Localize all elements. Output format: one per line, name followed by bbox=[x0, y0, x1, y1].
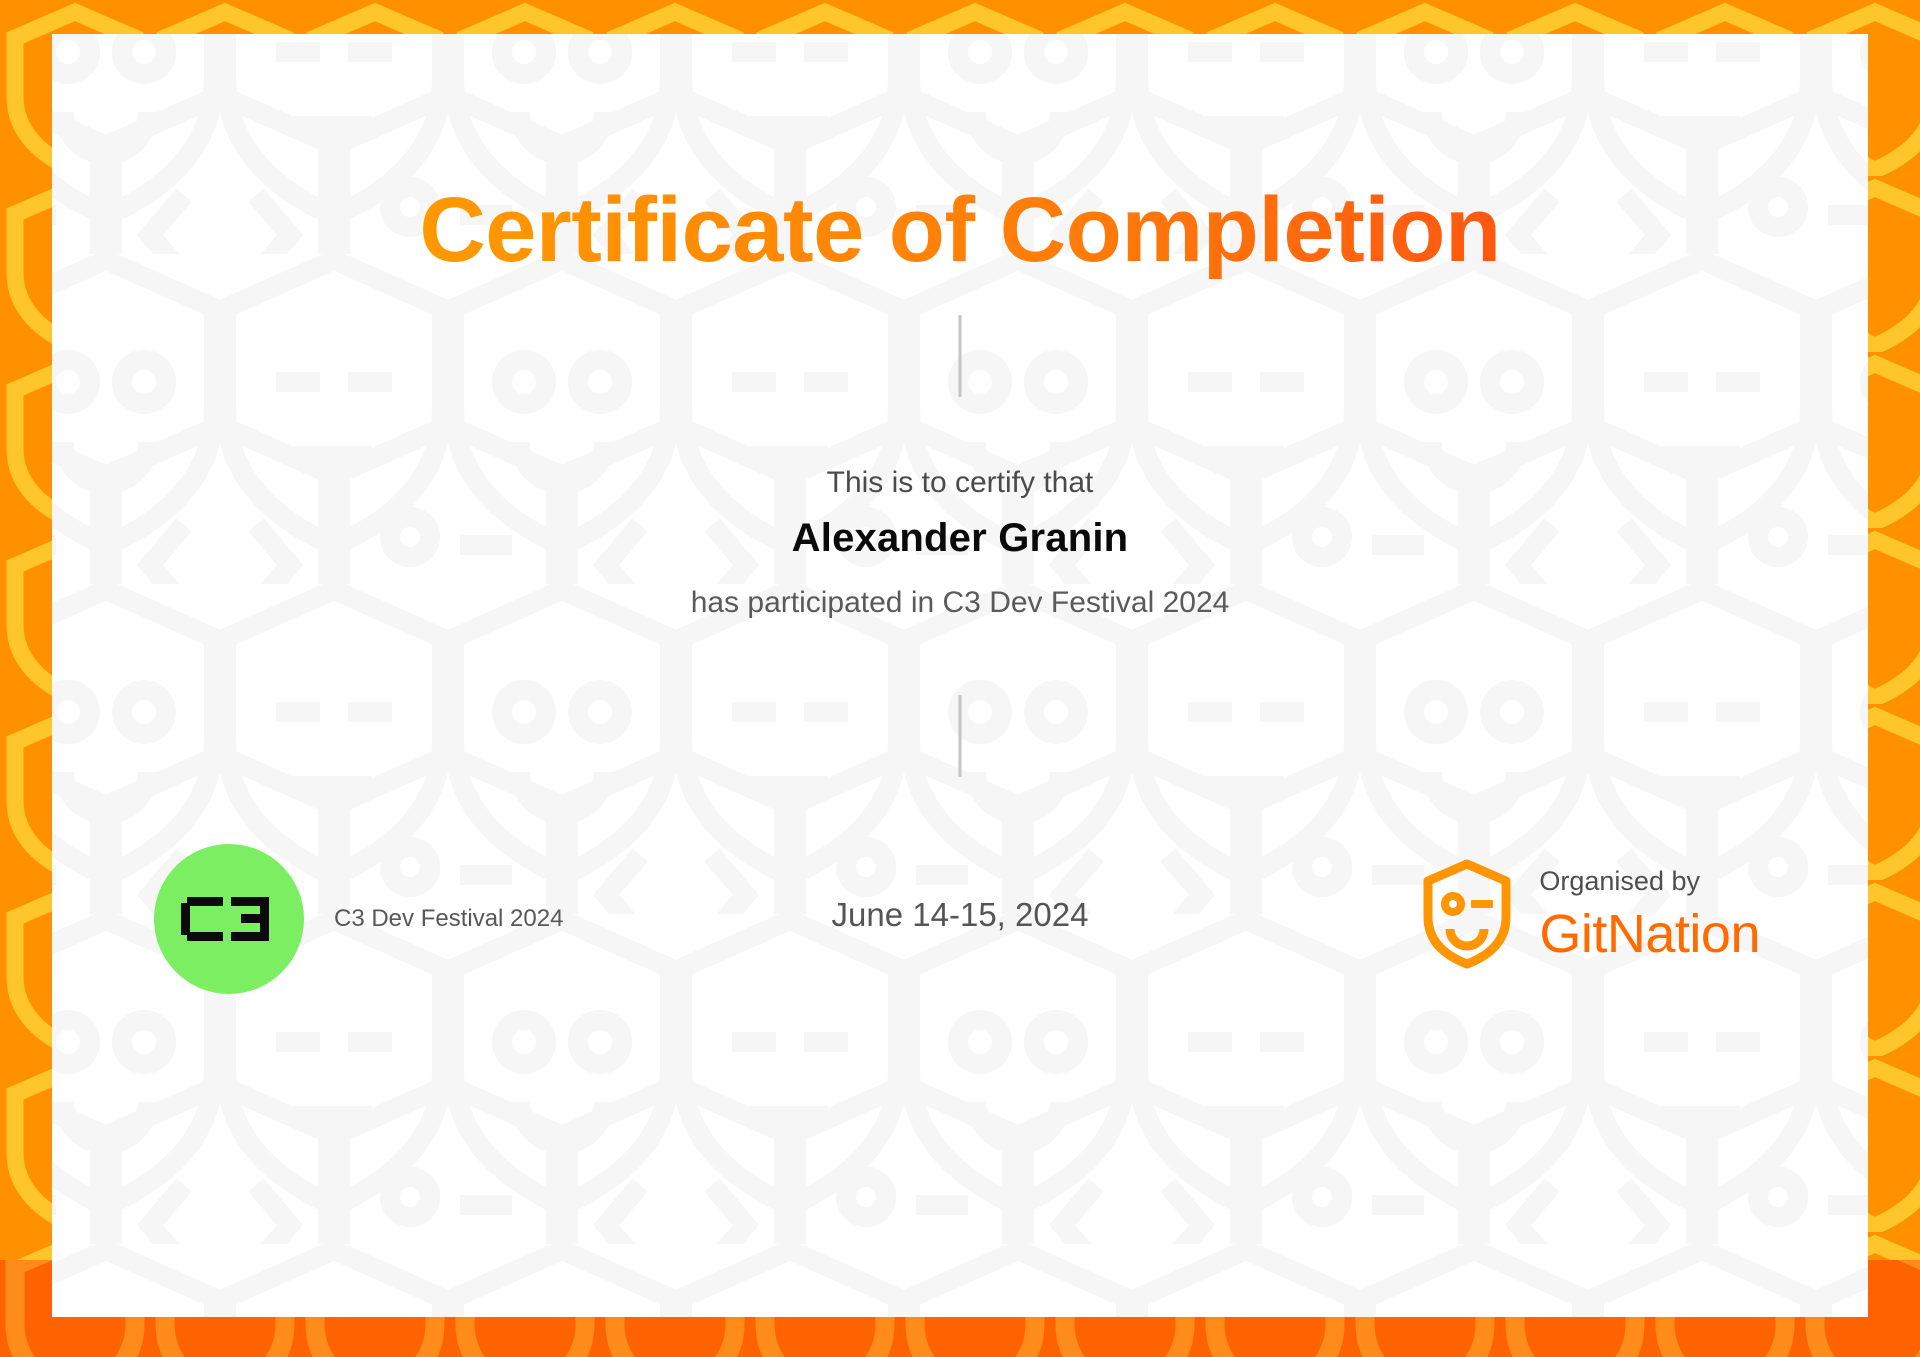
organiser-group: Organised by GitNation bbox=[1421, 859, 1760, 969]
divider-top bbox=[959, 315, 962, 397]
organiser-prefix-label: Organised by bbox=[1539, 868, 1760, 895]
organiser-text-block: Organised by GitNation bbox=[1539, 868, 1760, 961]
page-title: Certificate of Completion bbox=[52, 182, 1868, 279]
certificate-card: Certificate of Completion This is to cer… bbox=[52, 34, 1868, 1317]
certificate-footer: C3 Dev Festival 2024 June 14-15, 2024 Or… bbox=[52, 834, 1868, 1054]
gitnation-mask-icon bbox=[1421, 859, 1513, 969]
participation-statement: has participated in C3 Dev Festival 2024 bbox=[52, 586, 1868, 620]
certify-statement: This is to certify that bbox=[52, 466, 1868, 500]
recipient-name: Alexander Granin bbox=[52, 516, 1868, 561]
certificate-content: Certificate of Completion This is to cer… bbox=[52, 34, 1868, 1317]
certificate: Certificate of Completion This is to cer… bbox=[0, 0, 1920, 1357]
organiser-name-label: GitNation bbox=[1539, 907, 1760, 961]
divider-bottom bbox=[959, 695, 962, 777]
